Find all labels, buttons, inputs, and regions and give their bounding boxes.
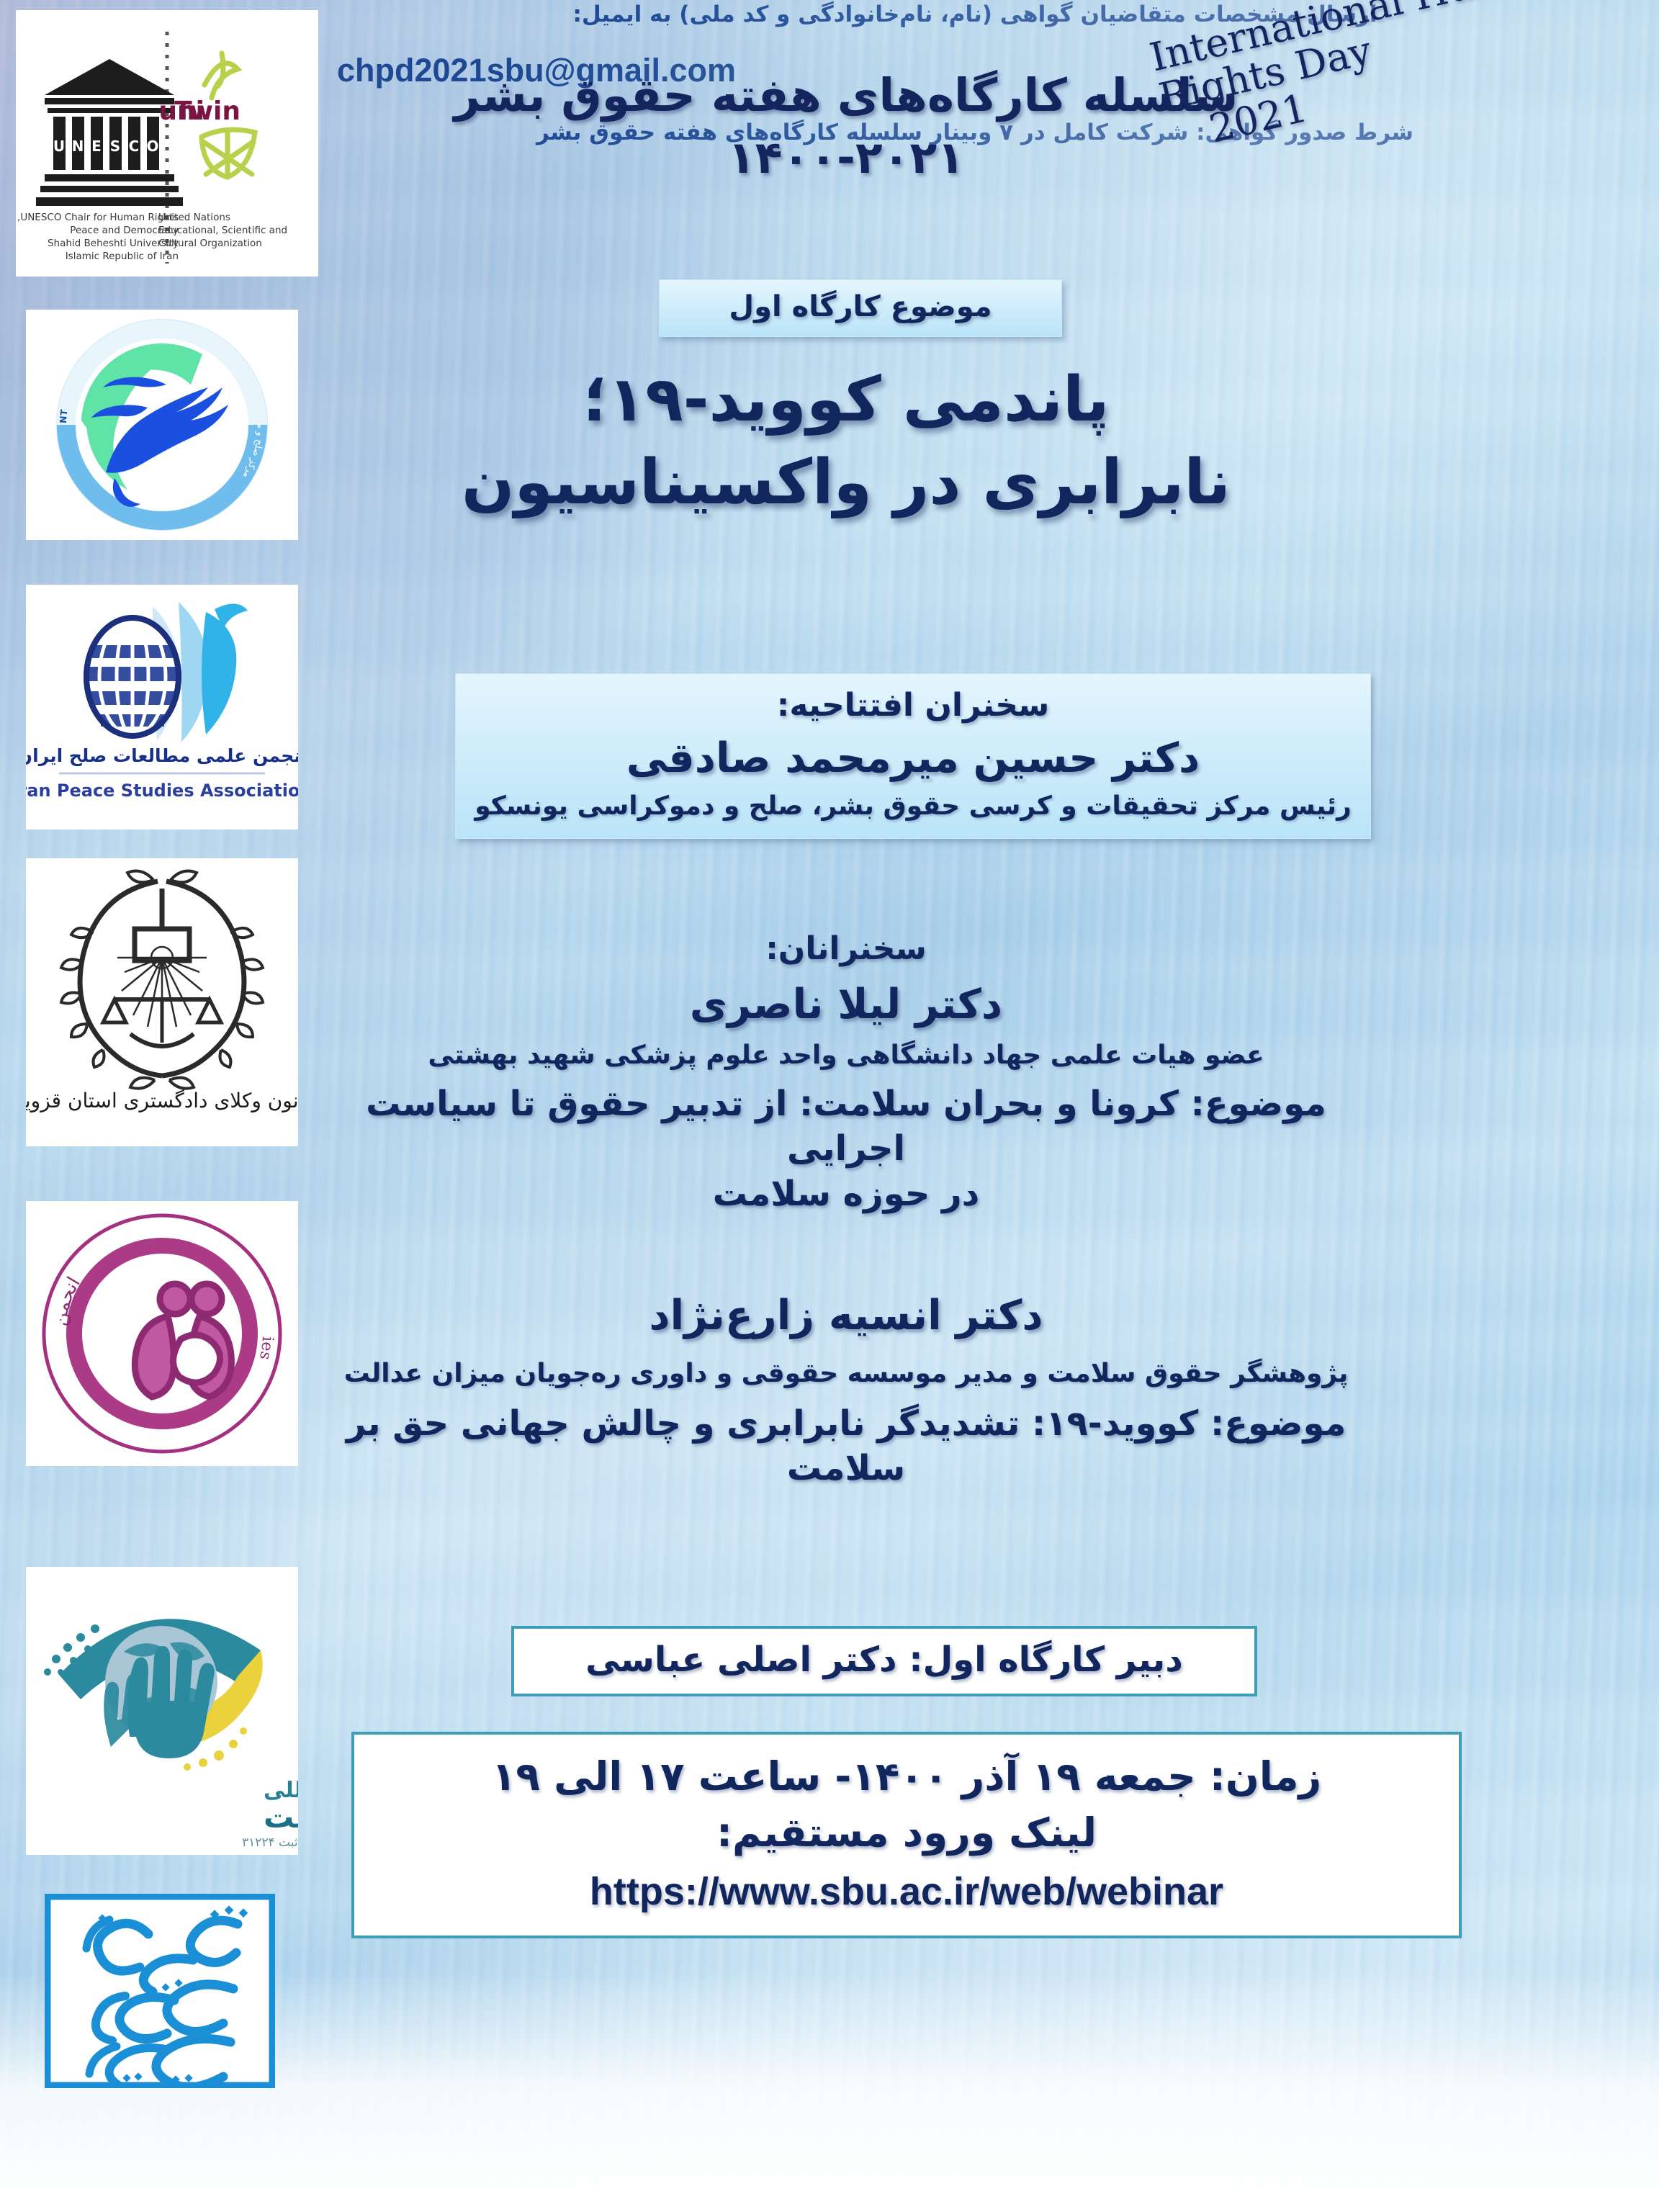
workshop-secretary-panel: دبیر کارگاه اول: دکتر اصلی عباسی bbox=[511, 1626, 1257, 1696]
main-title-line1: پاندمی کووید-۱۹؛ bbox=[317, 359, 1375, 441]
svg-text:C: C bbox=[129, 138, 140, 155]
direct-link-label: لینک ورود مستقیم: bbox=[379, 1807, 1434, 1860]
svg-text:Peace and Democracy: Peace and Democracy bbox=[70, 225, 179, 236]
logo-unesco-unitwin: UNE SCO uni Twin United Nations Educatio… bbox=[16, 10, 318, 276]
main-title-line2: نابرابری در واکسیناسیون bbox=[317, 441, 1375, 524]
speaker-1-affiliation: عضو هیات علمی جهاد دانشگاهی واحد علوم پز… bbox=[317, 1038, 1375, 1073]
speaker-2-topic-line2: سلامت bbox=[317, 1446, 1375, 1491]
svg-text:کانون وکلای دادگستری استان قزو: کانون وکلای دادگستری استان قزوین bbox=[26, 1089, 298, 1112]
opening-speaker-panel: سخنران افتتاحیه: دکتر حسین میرمحمد صادقی… bbox=[455, 673, 1371, 839]
speakers-label: سخنرانان: bbox=[317, 929, 1375, 969]
unesco-temple-unitwin-icon: UNE SCO uni Twin United Nations Educatio… bbox=[16, 10, 318, 276]
main-title-block: پاندمی کووید-۱۹؛ نابرابری در واکسیناسیون bbox=[317, 359, 1375, 524]
scales-wreath-icon: کانون وکلای دادگستری استان قزوین bbox=[26, 858, 298, 1146]
two-figures-ring-icon: انجمن ایرانی مطالعات زنان Iranian Associ… bbox=[26, 1201, 298, 1466]
svg-text:N: N bbox=[72, 138, 84, 155]
logo-center-peace-environment: CENTER FOR PEACE AND ENVIRONMENT مرکز صل… bbox=[26, 310, 298, 540]
svg-text:Iran Peace Studies Association: Iran Peace Studies Association bbox=[26, 781, 298, 801]
speakers-block: سخنرانان: دکتر لیلا ناصری عضو هیات علمی … bbox=[317, 929, 1375, 1216]
svg-text:UNESCO Chair for Human Rights,: UNESCO Chair for Human Rights, bbox=[17, 212, 179, 223]
svg-text:انجمن علمی مطالعات صلح ایران: انجمن علمی مطالعات صلح ایران bbox=[26, 745, 298, 767]
workshop-secretary-text: دبیر کارگاه اول: دکتر اصلی عباسی bbox=[514, 1637, 1254, 1682]
logo-justice-watch-institute: موسسه بین المللی دیدبان عدالت شماره ثبت … bbox=[26, 1567, 298, 1855]
svg-text:Twin: Twin bbox=[174, 96, 240, 126]
svg-text:E: E bbox=[91, 138, 102, 155]
svg-text:S: S bbox=[110, 138, 120, 155]
logo-iran-peace-studies: انجمن علمی مطالعات صلح ایران Iran Peace … bbox=[26, 585, 298, 829]
workshop-topic-tag: موضوع کارگاه اول bbox=[659, 279, 1062, 337]
dove-hand-globe-icon: CENTER FOR PEACE AND ENVIRONMENT مرکز صل… bbox=[26, 310, 298, 540]
eye-hands-globe-icon: موسسه بین المللی دیدبان عدالت شماره ثبت … bbox=[26, 1567, 298, 1855]
speaker-1-topic-line1: موضوع: کرونا و بحران سلامت: از تدبیر حقو… bbox=[317, 1082, 1375, 1172]
speaker-2-affiliation: پژوهشگر حقوق سلامت و مدیر موسسه حقوقی و … bbox=[317, 1357, 1375, 1391]
logo-qazvin-bar-association: کانون وکلای دادگستری استان قزوین bbox=[26, 858, 298, 1146]
opening-speaker-label: سخنران افتتاحیه: bbox=[469, 685, 1357, 726]
globe-dove-icon: انجمن علمی مطالعات صلح ایران Iran Peace … bbox=[26, 585, 298, 829]
speaker-1-topic-line2: در حوزه سلامت bbox=[317, 1172, 1375, 1216]
speaker-2-topic-line1: موضوع: کووید-۱۹: تشدیدگر نابرابری و چالش… bbox=[317, 1401, 1375, 1446]
logo-rail: UNE SCO uni Twin United Nations Educatio… bbox=[0, 0, 317, 2212]
opening-speaker-name: دکتر حسین میرمحمد صادقی bbox=[469, 732, 1357, 785]
logo-shahid-beheshti-university bbox=[45, 1894, 275, 2088]
speaker-2-name: دکتر انسیه زارع‌نژاد bbox=[317, 1289, 1375, 1342]
speaker-2-block: دکتر انسیه زارع‌نژاد پژوهشگر حقوق سلامت … bbox=[317, 1289, 1375, 1491]
svg-text:O: O bbox=[146, 138, 158, 155]
svg-text:Islamic Republic of Iran: Islamic Republic of Iran bbox=[66, 251, 179, 262]
schedule-panel: زمان: جمعه ۱۹ آذر ۱۴۰۰- ساعت ۱۷ الی ۱۹ ل… bbox=[351, 1732, 1462, 1938]
speaker-1-name: دکتر لیلا ناصری bbox=[317, 978, 1375, 1031]
opening-speaker-affiliation: رئیس مرکز تحقیقات و کرسی حقوق بشر، صلح و… bbox=[469, 789, 1357, 824]
svg-text:دیدبان عدالت: دیدبان عدالت bbox=[264, 1799, 298, 1835]
poster-canvas: UNE SCO uni Twin United Nations Educatio… bbox=[0, 0, 1659, 2212]
svg-text:U: U bbox=[53, 138, 65, 155]
workshop-topic-tag-label: موضوع کارگاه اول bbox=[660, 290, 1061, 323]
logo-iranian-womens-studies: انجمن ایرانی مطالعات زنان Iranian Associ… bbox=[26, 1201, 298, 1466]
event-time: زمان: جمعه ۱۹ آذر ۱۴۰۰- ساعت ۱۷ الی ۱۹ bbox=[379, 1750, 1434, 1804]
svg-text:شماره ثبت ۳۱۲۲۴: شماره ثبت ۳۱۲۲۴ bbox=[242, 1835, 298, 1850]
svg-text:Shahid Beheshti University: Shahid Beheshti University bbox=[48, 238, 179, 249]
webinar-url[interactable]: https://www.sbu.ac.ir/web/webinar bbox=[379, 1869, 1434, 1914]
sbu-calligraphy-icon bbox=[45, 1894, 275, 2088]
